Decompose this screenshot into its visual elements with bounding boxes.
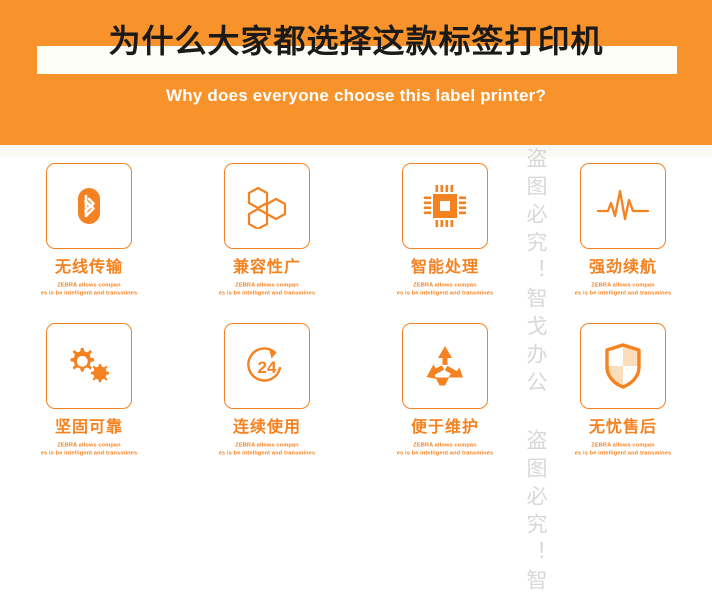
feature-icon-box — [224, 163, 310, 249]
page-header: 为什么大家都选择这款标签打印机 Why does everyone choose… — [0, 0, 712, 145]
svg-text:24: 24 — [258, 358, 277, 377]
shield-icon — [601, 341, 645, 391]
feature-label: 强劲续航 — [589, 259, 657, 277]
feature-label: 坚固可靠 — [55, 419, 123, 437]
feature-sub-line1: ZEBRA allows compan — [546, 282, 701, 290]
feature-sub-line1: ZEBRA allows compan — [368, 282, 523, 290]
feature-sub-line2: es is be intelligent and transmines — [368, 290, 523, 298]
feature-card[interactable]: 无忧售后 ZEBRA allows compan es is be intell… — [534, 323, 712, 483]
feature-sub-line1: ZEBRA allows compan — [190, 282, 345, 290]
feature-sub: ZEBRA allows compan es is be intelligent… — [12, 282, 167, 298]
feature-icon-box — [46, 163, 132, 249]
feature-card[interactable]: 24 连续使用 ZEBRA allows compan es is be int… — [178, 323, 356, 483]
24-hour-cycle-icon: 24 — [243, 342, 291, 390]
feature-sub-line2: es is be intelligent and transmines — [546, 450, 701, 458]
heartbeat-pulse-icon — [595, 186, 651, 226]
feature-sub-line2: es is be intelligent and transmines — [12, 450, 167, 458]
feature-card[interactable]: 无线传输 ZEBRA allows compan es is be intell… — [0, 163, 178, 323]
feature-label: 兼容性广 — [233, 259, 301, 277]
page-subtitle: Why does everyone choose this label prin… — [0, 86, 712, 106]
feature-icon-box — [580, 163, 666, 249]
feature-icon-box: 24 — [224, 323, 310, 409]
feature-icon-box — [402, 323, 488, 409]
feature-sub: ZEBRA allows compan es is be intelligent… — [190, 282, 345, 298]
feature-sub: ZEBRA allows compan es is be intelligent… — [368, 282, 523, 298]
feature-sub-line2: es is be intelligent and transmines — [190, 450, 345, 458]
top-divider-band — [0, 145, 712, 157]
feature-grid: 无线传输 ZEBRA allows compan es is be intell… — [0, 163, 712, 483]
feature-sub-line1: ZEBRA allows compan — [368, 442, 523, 450]
feature-label: 智能处理 — [411, 259, 479, 277]
feature-sub: ZEBRA allows compan es is be intelligent… — [546, 442, 701, 458]
feature-sub-line1: ZEBRA allows compan — [12, 282, 167, 290]
honeycomb-icon — [242, 183, 292, 229]
feature-sub: ZEBRA allows compan es is be intelligent… — [368, 442, 523, 458]
page-title: 为什么大家都选择这款标签打印机 — [0, 20, 712, 62]
feature-card[interactable]: 强劲续航 ZEBRA allows compan es is be intell… — [534, 163, 712, 323]
feature-sub: ZEBRA allows compan es is be intelligent… — [546, 282, 701, 298]
feature-card[interactable]: 兼容性广 ZEBRA allows compan es is be intell… — [178, 163, 356, 323]
feature-icon-box — [402, 163, 488, 249]
feature-sub-line2: es is be intelligent and transmines — [12, 290, 167, 298]
features-section: 盗图必究！智戈办公 盗图必究！智 无线传输 ZEBRA allows compa… — [0, 145, 712, 516]
feature-icon-box — [580, 323, 666, 409]
feature-sub-line1: ZEBRA allows compan — [190, 442, 345, 450]
feature-sub-line2: es is be intelligent and transmines — [368, 450, 523, 458]
bluetooth-icon — [66, 183, 112, 229]
feature-label: 无线传输 — [55, 259, 123, 277]
feature-sub-line2: es is be intelligent and transmines — [190, 290, 345, 298]
feature-card[interactable]: 智能处理 ZEBRA allows compan es is be intell… — [356, 163, 534, 323]
feature-sub-line2: es is be intelligent and transmines — [546, 290, 701, 298]
gears-icon — [62, 344, 116, 388]
recycle-icon — [421, 343, 469, 389]
feature-card[interactable]: 坚固可靠 ZEBRA allows compan es is be intell… — [0, 323, 178, 483]
feature-sub-line1: ZEBRA allows compan — [12, 442, 167, 450]
cpu-chip-icon — [421, 182, 469, 230]
feature-sub-line1: ZEBRA allows compan — [546, 442, 701, 450]
feature-icon-box — [46, 323, 132, 409]
feature-label: 无忧售后 — [589, 419, 657, 437]
feature-label: 便于维护 — [411, 419, 479, 437]
feature-card[interactable]: 便于维护 ZEBRA allows compan es is be intell… — [356, 323, 534, 483]
feature-sub: ZEBRA allows compan es is be intelligent… — [190, 442, 345, 458]
feature-sub: ZEBRA allows compan es is be intelligent… — [12, 442, 167, 458]
feature-label: 连续使用 — [233, 419, 301, 437]
